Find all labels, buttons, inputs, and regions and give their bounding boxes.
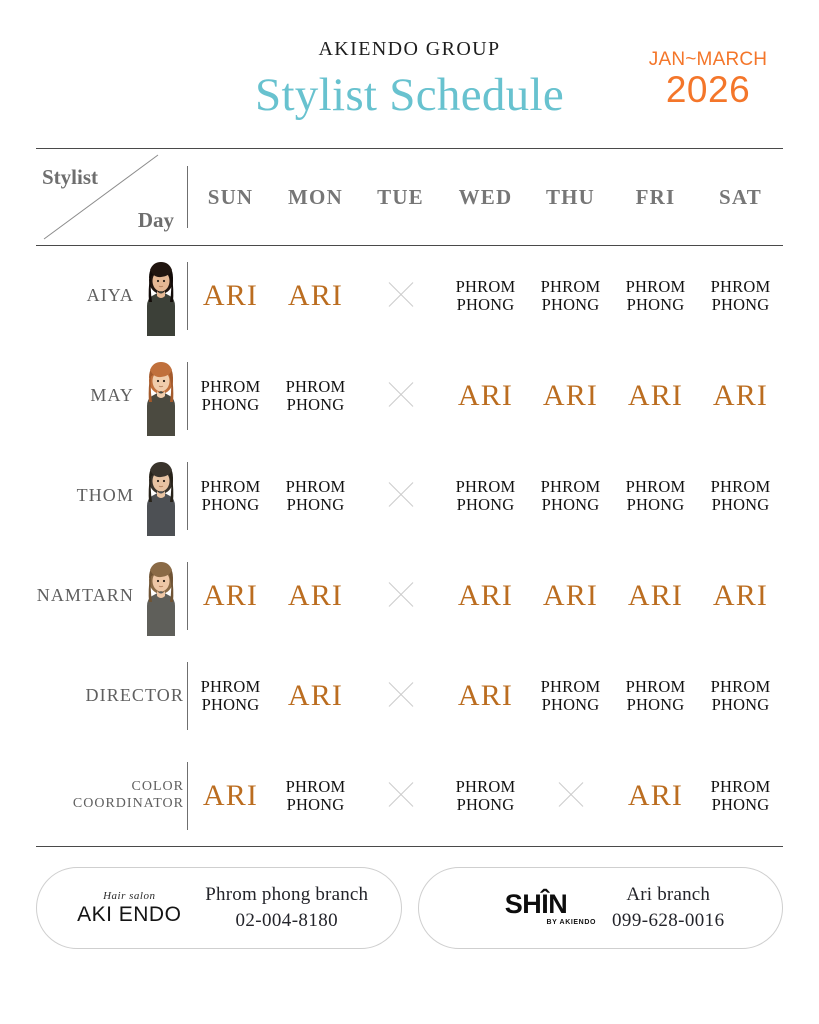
logo-main-text: AKI ENDO bbox=[69, 904, 189, 925]
phrom-line-1: PHROM bbox=[698, 778, 783, 796]
branch-info-phrom-phong: Phrom phong branch 02-004-8180 bbox=[205, 882, 368, 933]
schedule-cell[interactable]: PHROMPHONG bbox=[613, 446, 698, 546]
branch-card-ari[interactable]: SHÎN BY AKIENDO Ari branch 099-628-0016 bbox=[418, 867, 784, 949]
branch-label-ari: ARI bbox=[613, 581, 698, 611]
branch-label-ari: ARI bbox=[188, 281, 273, 311]
schedule-cell[interactable]: PHROMPHONG bbox=[698, 646, 783, 746]
schedule-cell[interactable]: PHROMPHONG bbox=[443, 246, 528, 346]
logo-sub-text: BY AKIENDO bbox=[476, 919, 596, 926]
phrom-line-1: PHROM bbox=[188, 678, 273, 696]
schedule-cell[interactable] bbox=[358, 646, 443, 746]
schedule-cell[interactable]: PHROMPHONG bbox=[188, 346, 273, 446]
phrom-line-1: PHROM bbox=[528, 678, 613, 696]
schedule-cell[interactable]: PHROMPHONG bbox=[698, 246, 783, 346]
stylist-cell: NAMTARN bbox=[36, 546, 186, 646]
schedule-cell[interactable]: ARI bbox=[443, 646, 528, 746]
stylist-cell: COLOR COORDINATOR bbox=[36, 746, 186, 846]
table-row: NAMTARN ARIARIARIARIARIARI bbox=[36, 546, 783, 646]
branch-name: Ari branch bbox=[612, 882, 724, 908]
phrom-line-2: PHONG bbox=[528, 696, 613, 714]
schedule-cell[interactable]: PHROMPHONG bbox=[188, 446, 273, 546]
schedule-cell[interactable]: PHROMPHONG bbox=[273, 746, 358, 846]
schedule-cell[interactable]: ARI bbox=[613, 746, 698, 846]
schedule-cell[interactable]: ARI bbox=[188, 746, 273, 846]
phrom-line-1: PHROM bbox=[528, 478, 613, 496]
stylist-name: AIYA bbox=[87, 285, 134, 307]
branch-label-phrom-phong: PHROMPHONG bbox=[273, 378, 358, 415]
branch-label-ari: ARI bbox=[188, 781, 273, 811]
phrom-line-1: PHROM bbox=[188, 378, 273, 396]
phrom-line-2: PHONG bbox=[188, 696, 273, 714]
branch-label-ari: ARI bbox=[443, 381, 528, 411]
avatar-thom-icon bbox=[138, 454, 184, 538]
period-badge: JAN~MARCH 2026 bbox=[633, 50, 783, 112]
stylist-cell: AIYA bbox=[36, 246, 186, 346]
stylist-cell: MAY bbox=[36, 346, 186, 446]
branch-label-phrom-phong: PHROMPHONG bbox=[273, 778, 358, 815]
phrom-line-1: PHROM bbox=[613, 678, 698, 696]
phrom-line-2: PHONG bbox=[443, 296, 528, 314]
phrom-line-2: PHONG bbox=[273, 496, 358, 514]
branch-label-ari: ARI bbox=[443, 581, 528, 611]
corner-header-cell: Stylist Day bbox=[36, 149, 186, 245]
schedule-cell[interactable]: ARI bbox=[273, 246, 358, 346]
period-year: 2026 bbox=[633, 69, 783, 112]
branch-label-phrom-phong: PHROMPHONG bbox=[613, 278, 698, 315]
day-header-sat: SAT bbox=[698, 149, 783, 245]
phrom-line-1: PHROM bbox=[613, 278, 698, 296]
stylist-cell: DIRECTOR bbox=[36, 646, 186, 746]
schedule-cell[interactable]: ARI bbox=[698, 346, 783, 446]
phrom-line-2: PHONG bbox=[613, 296, 698, 314]
branch-label-phrom-phong: PHROMPHONG bbox=[528, 278, 613, 315]
phrom-line-2: PHONG bbox=[273, 396, 358, 414]
schedule-cell[interactable]: PHROMPHONG bbox=[528, 446, 613, 546]
stylist-name: MAY bbox=[90, 385, 134, 407]
branch-label-ari: ARI bbox=[273, 281, 358, 311]
phrom-line-1: PHROM bbox=[443, 478, 528, 496]
branch-label-phrom-phong: PHROMPHONG bbox=[528, 478, 613, 515]
avatar-may-icon bbox=[138, 354, 184, 438]
schedule-cell[interactable]: ARI bbox=[528, 546, 613, 646]
branch-label-ari: ARI bbox=[188, 581, 273, 611]
corner-label-day: Day bbox=[138, 208, 174, 233]
schedule-cell[interactable]: ARI bbox=[188, 246, 273, 346]
phrom-line-2: PHONG bbox=[188, 496, 273, 514]
stylist-name: COLOR COORDINATOR bbox=[36, 779, 184, 813]
branch-label-phrom-phong: PHROMPHONG bbox=[613, 478, 698, 515]
branch-label-ari: ARI bbox=[528, 581, 613, 611]
phrom-line-2: PHONG bbox=[528, 496, 613, 514]
avatar-namtarn-icon bbox=[138, 554, 184, 638]
poster-header: AKIENDO GROUP Stylist Schedule JAN~MARCH… bbox=[36, 0, 783, 148]
schedule-cell[interactable]: PHROMPHONG bbox=[698, 446, 783, 546]
schedule-cell[interactable] bbox=[358, 246, 443, 346]
logo-script-text: Hair salon bbox=[69, 891, 189, 902]
table-row: DIRECTORPHROMPHONGARIARIPHROMPHONGPHROMP… bbox=[36, 646, 783, 746]
day-header-fri: FRI bbox=[613, 149, 698, 245]
day-header-sun: SUN bbox=[188, 149, 273, 245]
phrom-line-2: PHONG bbox=[698, 696, 783, 714]
branch-label-ari: ARI bbox=[273, 681, 358, 711]
branch-label-phrom-phong: PHROMPHONG bbox=[443, 478, 528, 515]
branch-name: Phrom phong branch bbox=[205, 882, 368, 908]
phrom-line-2: PHONG bbox=[698, 496, 783, 514]
schedule-cell[interactable]: PHROMPHONG bbox=[528, 646, 613, 746]
phrom-line-2: PHONG bbox=[613, 696, 698, 714]
day-off-x-icon bbox=[384, 277, 418, 311]
branch-label-phrom-phong: PHROMPHONG bbox=[188, 678, 273, 715]
footer-divider bbox=[36, 846, 783, 847]
table-row: THOM PHROMPHONGPHROMPHONGPHROMPHONGPHROM… bbox=[36, 446, 783, 546]
branch-label-ari: ARI bbox=[443, 681, 528, 711]
day-header-thu: THU bbox=[528, 149, 613, 245]
day-off-x-icon bbox=[384, 777, 418, 811]
branch-label-phrom-phong: PHROMPHONG bbox=[698, 678, 783, 715]
phrom-line-2: PHONG bbox=[443, 796, 528, 814]
schedule-cell[interactable] bbox=[358, 546, 443, 646]
branch-label-ari: ARI bbox=[613, 781, 698, 811]
phrom-line-1: PHROM bbox=[443, 778, 528, 796]
aki-endo-logo: Hair salon AKI ENDO bbox=[69, 891, 189, 925]
schedule-cell[interactable]: PHROMPHONG bbox=[188, 646, 273, 746]
day-header-mon: MON bbox=[273, 149, 358, 245]
day-off-x-icon bbox=[384, 677, 418, 711]
phrom-line-2: PHONG bbox=[613, 496, 698, 514]
branch-label-phrom-phong: PHROMPHONG bbox=[188, 378, 273, 415]
day-off-x-icon bbox=[384, 477, 418, 511]
schedule-cell[interactable]: PHROMPHONG bbox=[698, 746, 783, 846]
schedule-cell[interactable]: ARI bbox=[613, 546, 698, 646]
branch-card-phrom-phong[interactable]: Hair salon AKI ENDO Phrom phong branch 0… bbox=[36, 867, 402, 949]
schedule-cell[interactable] bbox=[358, 346, 443, 446]
day-off-x-icon bbox=[384, 577, 418, 611]
shin-logo: SHÎN BY AKIENDO bbox=[476, 891, 596, 926]
schedule-cell[interactable]: PHROMPHONG bbox=[443, 446, 528, 546]
stylist-name: THOM bbox=[77, 485, 134, 507]
day-off-x-icon bbox=[554, 777, 588, 811]
branch-label-ari: ARI bbox=[698, 381, 783, 411]
avatar-aiya-icon bbox=[138, 254, 184, 338]
branch-label-phrom-phong: PHROMPHONG bbox=[273, 478, 358, 515]
phrom-line-1: PHROM bbox=[528, 278, 613, 296]
branch-phone[interactable]: 02-004-8180 bbox=[205, 908, 368, 934]
branch-label-phrom-phong: PHROMPHONG bbox=[528, 678, 613, 715]
phrom-line-1: PHROM bbox=[443, 278, 528, 296]
phrom-line-1: PHROM bbox=[698, 478, 783, 496]
schedule-cell[interactable] bbox=[528, 746, 613, 846]
phrom-line-2: PHONG bbox=[698, 796, 783, 814]
phrom-line-2: PHONG bbox=[443, 496, 528, 514]
day-header-wed: WED bbox=[443, 149, 528, 245]
schedule-cell[interactable]: PHROMPHONG bbox=[273, 446, 358, 546]
corner-label-stylist: Stylist bbox=[42, 165, 98, 190]
phrom-line-2: PHONG bbox=[188, 396, 273, 414]
branch-label-ari: ARI bbox=[528, 381, 613, 411]
period-range: JAN~MARCH bbox=[633, 50, 783, 69]
phrom-line-1: PHROM bbox=[273, 478, 358, 496]
schedule-poster: AKIENDO GROUP Stylist Schedule JAN~MARCH… bbox=[0, 0, 819, 1024]
schedule-cell[interactable]: ARI bbox=[698, 546, 783, 646]
phrom-line-1: PHROM bbox=[273, 378, 358, 396]
stylist-name: DIRECTOR bbox=[86, 685, 184, 707]
branch-info-ari: Ari branch 099-628-0016 bbox=[612, 882, 724, 933]
schedule-cell[interactable]: ARI bbox=[188, 546, 273, 646]
branch-label-phrom-phong: PHROMPHONG bbox=[443, 278, 528, 315]
schedule-cell[interactable]: PHROMPHONG bbox=[273, 346, 358, 446]
schedule-cell[interactable]: ARI bbox=[528, 346, 613, 446]
table-row: AIYA ARIARIPHROMPHONGPHROMPHONGPHROMPHON… bbox=[36, 246, 783, 346]
schedule-cell[interactable]: ARI bbox=[273, 546, 358, 646]
schedule-cell[interactable]: ARI bbox=[613, 346, 698, 446]
branch-label-ari: ARI bbox=[698, 581, 783, 611]
table-header-row: Stylist Day SUN MON TUE WED THU FRI SAT bbox=[36, 149, 783, 245]
day-header-tue: TUE bbox=[358, 149, 443, 245]
schedule-cell[interactable]: ARI bbox=[443, 546, 528, 646]
stylist-name: NAMTARN bbox=[37, 585, 134, 607]
schedule-table: Stylist Day SUN MON TUE WED THU FRI SAT bbox=[36, 149, 783, 245]
schedule-cell[interactable] bbox=[358, 446, 443, 546]
branch-label-ari: ARI bbox=[613, 381, 698, 411]
branch-footer: Hair salon AKI ENDO Phrom phong branch 0… bbox=[36, 867, 783, 949]
logo-main-text: SHÎN bbox=[476, 891, 596, 918]
phrom-line-2: PHONG bbox=[528, 296, 613, 314]
schedule-cell[interactable] bbox=[358, 746, 443, 846]
table-row: COLOR COORDINATORARIPHROMPHONGPHROMPHONG… bbox=[36, 746, 783, 846]
schedule-cell[interactable]: PHROMPHONG bbox=[613, 646, 698, 746]
schedule-cell[interactable]: PHROMPHONG bbox=[528, 246, 613, 346]
phrom-line-1: PHROM bbox=[698, 278, 783, 296]
branch-label-phrom-phong: PHROMPHONG bbox=[443, 778, 528, 815]
schedule-cell[interactable]: ARI bbox=[273, 646, 358, 746]
branch-label-phrom-phong: PHROMPHONG bbox=[613, 678, 698, 715]
branch-phone[interactable]: 099-628-0016 bbox=[612, 908, 724, 934]
phrom-line-1: PHROM bbox=[188, 478, 273, 496]
branch-label-ari: ARI bbox=[273, 581, 358, 611]
schedule-body: AIYA ARIARIPHROMPHONGPHROMPHONGPHROMPHON… bbox=[36, 246, 783, 846]
schedule-cell[interactable]: PHROMPHONG bbox=[613, 246, 698, 346]
phrom-line-1: PHROM bbox=[613, 478, 698, 496]
branch-label-phrom-phong: PHROMPHONG bbox=[698, 478, 783, 515]
table-row: MAY PHROMPHONGPHROMPHONGARIARIARIARI bbox=[36, 346, 783, 446]
stylist-cell: THOM bbox=[36, 446, 186, 546]
schedule-cell[interactable]: PHROMPHONG bbox=[443, 746, 528, 846]
phrom-line-2: PHONG bbox=[273, 796, 358, 814]
branch-label-phrom-phong: PHROMPHONG bbox=[188, 478, 273, 515]
day-off-x-icon bbox=[384, 377, 418, 411]
schedule-cell[interactable]: ARI bbox=[443, 346, 528, 446]
phrom-line-2: PHONG bbox=[698, 296, 783, 314]
phrom-line-1: PHROM bbox=[698, 678, 783, 696]
branch-label-phrom-phong: PHROMPHONG bbox=[698, 278, 783, 315]
branch-label-phrom-phong: PHROMPHONG bbox=[698, 778, 783, 815]
phrom-line-1: PHROM bbox=[273, 778, 358, 796]
